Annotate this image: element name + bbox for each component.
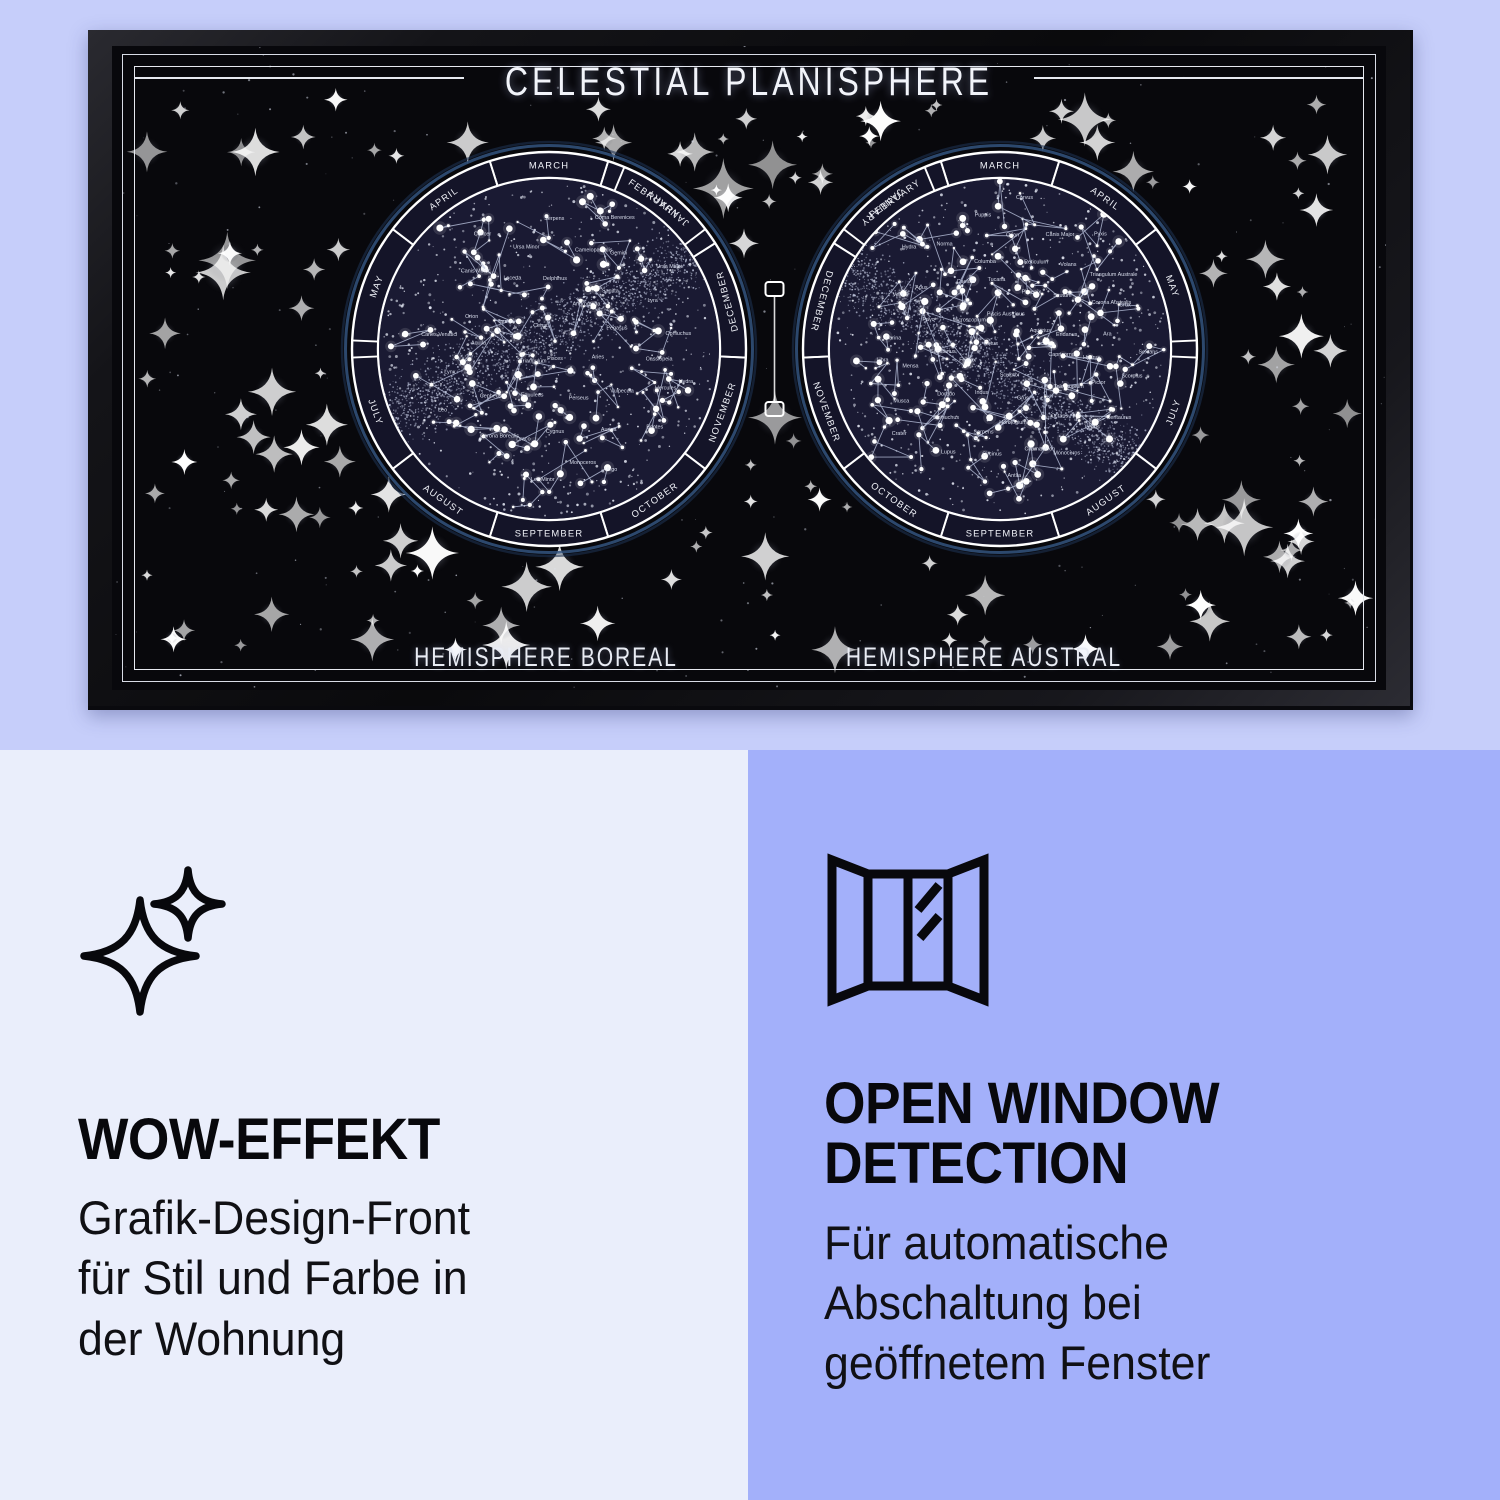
svg-text:Cepheus: Cepheus	[480, 393, 502, 399]
poster-frame: CELESTIAL PLANISPHERE PiscesCetusAriesTr…	[88, 30, 1410, 706]
svg-text:Triangulum: Triangulum	[520, 359, 547, 365]
svg-text:Cygnus: Cygnus	[546, 429, 565, 435]
svg-text:Leo: Leo	[438, 407, 447, 413]
panel-body: Grafik-Design-Front für Stil und Farbe i…	[78, 1188, 658, 1368]
svg-text:Perseus: Perseus	[569, 395, 589, 401]
svg-text:MARCH: MARCH	[529, 160, 569, 171]
hemisphere-boreal-label: HEMISPHERE BOREAL	[390, 642, 702, 673]
feature-panels: WOW-EFFEKT Grafik-Design-Front für Stil …	[0, 750, 1500, 1500]
svg-text:Bootes: Bootes	[646, 425, 663, 431]
panel-heading: OPEN WINDOW DETECTION	[824, 1074, 1391, 1195]
svg-text:Auriga: Auriga	[601, 427, 617, 433]
feature-panel-open-window-detection: OPEN WINDOW DETECTION Für automatische A…	[748, 750, 1500, 1500]
svg-text:Canis Minor: Canis Minor	[461, 269, 490, 275]
svg-text:Gemini: Gemini	[610, 250, 627, 256]
planisphere-chart: PiscesCetusAriesTriangulumAndromedaPerse…	[112, 46, 1386, 690]
svg-text:Aquila: Aquila	[471, 340, 486, 346]
svg-text:Ophiuchus: Ophiuchus	[665, 331, 691, 337]
panel-heading: WOW-EFFEKT	[78, 1110, 639, 1170]
svg-text:Orion: Orion	[465, 314, 478, 320]
svg-text:Equuleus: Equuleus	[521, 392, 544, 398]
svg-text:Cassiopeia: Cassiopeia	[646, 357, 673, 363]
hero-section: CELESTIAL PLANISPHERE PiscesCetusAriesTr…	[0, 0, 1500, 750]
svg-text:Virgo: Virgo	[605, 467, 618, 473]
svg-text:Cancer: Cancer	[474, 231, 492, 237]
svg-text:Hydra: Hydra	[679, 379, 693, 385]
svg-text:Pisces: Pisces	[547, 356, 563, 362]
hemisphere-austral-label: HEMISPHERE AUSTRAL	[828, 642, 1140, 673]
svg-text:Corona Borealis: Corona Borealis	[480, 433, 519, 439]
svg-text:SEPTEMBER: SEPTEMBER	[515, 528, 584, 539]
svg-text:Aries: Aries	[592, 354, 605, 360]
svg-text:Canes Venatici: Canes Venatici	[421, 332, 457, 338]
svg-text:Pegasus: Pegasus	[606, 325, 627, 331]
feature-panel-wow-effekt: WOW-EFFEKT Grafik-Design-Front für Stil …	[0, 750, 748, 1500]
svg-text:Hercules: Hercules	[655, 385, 677, 391]
svg-text:Lacerta: Lacerta	[503, 275, 521, 281]
open-window-icon	[824, 850, 1440, 1006]
poster-frame-bevel: CELESTIAL PLANISPHERE PiscesCetusAriesTr…	[112, 46, 1386, 690]
svg-text:Ursa Major: Ursa Major	[656, 264, 683, 270]
svg-text:Serpens: Serpens	[544, 216, 564, 222]
svg-text:Delphinus: Delphinus	[543, 276, 567, 282]
svg-text:Cetus: Cetus	[533, 323, 547, 329]
svg-text:Vulpecula: Vulpecula	[610, 388, 633, 394]
svg-text:Monoceros: Monoceros	[569, 460, 596, 466]
svg-text:Leo Minor: Leo Minor	[531, 477, 555, 483]
svg-text:Sagitta: Sagitta	[602, 288, 619, 294]
svg-text:Ursa Minor: Ursa Minor	[513, 245, 540, 251]
sparkle-icon	[78, 862, 688, 1018]
svg-text:Lynx: Lynx	[444, 369, 455, 375]
svg-text:Lyra: Lyra	[647, 298, 657, 304]
celestial-poster: CELESTIAL PLANISPHERE PiscesCetusAriesTr…	[112, 46, 1386, 690]
svg-text:Coma Berenices: Coma Berenices	[595, 215, 635, 221]
svg-text:Taurus: Taurus	[497, 319, 513, 325]
panel-body: Für automatische Abschaltung bei geöffne…	[824, 1213, 1409, 1393]
